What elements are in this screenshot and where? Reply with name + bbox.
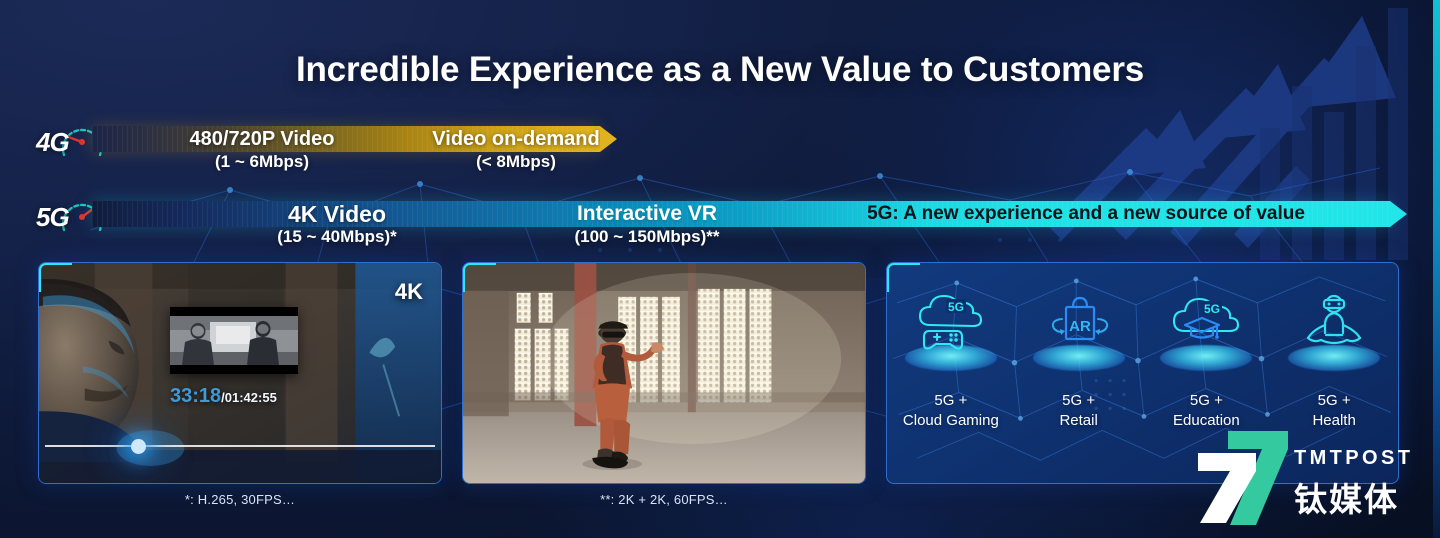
video-quality-badge: 4K bbox=[395, 279, 423, 305]
bar-segment-subtitle-480-720p: (1 ~ 6Mbps) bbox=[92, 152, 432, 172]
bar-segment-title-video-on-demand: Video on-demand bbox=[432, 126, 600, 152]
video-timestamp: 33:18/01:42:55 bbox=[170, 385, 277, 408]
svg-text:5G: 5G bbox=[1204, 302, 1220, 316]
bar-segment-title-4k-video: 4K Video bbox=[92, 201, 582, 227]
panel-caption-interactive-vr: **: 2K + 2K, 60FPS… bbox=[462, 492, 866, 507]
page-title: Incredible Experience as a New Value to … bbox=[0, 50, 1440, 90]
use-case-label-line1: 5G + bbox=[1312, 391, 1355, 411]
use-case-icon-wrapper: 5G bbox=[1160, 291, 1252, 369]
use-case-retail[interactable]: AR 5G + Retail bbox=[1015, 263, 1143, 483]
generation-label-4g: 4G bbox=[36, 127, 69, 158]
video-current-time: 33:18 bbox=[170, 385, 221, 407]
meditating-person-vr-icon bbox=[1293, 291, 1375, 353]
video-progress-bar[interactable] bbox=[45, 445, 435, 447]
svg-text:AR: AR bbox=[1069, 318, 1091, 335]
bar-segment-subtitle-4k-video: (15 ~ 40Mbps)* bbox=[92, 227, 582, 247]
vr-frame-dancer-in-hall bbox=[463, 263, 865, 484]
panel-5g-use-cases: 5G 5G + Cloud Gaming bbox=[886, 262, 1399, 484]
shopping-bag-ar-icon: AR bbox=[1038, 291, 1120, 353]
speed-bar-4g: 480/720P Video Video on-demand bbox=[92, 126, 600, 152]
use-case-label: 5G + Cloud Gaming bbox=[903, 391, 999, 432]
bar-segment-subtitle-video-on-demand: (< 8Mbps) bbox=[432, 152, 600, 172]
svg-text:5G: 5G bbox=[948, 300, 964, 314]
bar-segment-title-interactive-vr: Interactive VR bbox=[532, 201, 762, 227]
use-case-label-line1: 5G + bbox=[1173, 391, 1240, 411]
use-case-label: 5G + Retail bbox=[1059, 391, 1097, 432]
use-case-label-line2: Retail bbox=[1059, 411, 1097, 431]
video-progress-handle[interactable] bbox=[131, 439, 146, 454]
bar-segment-title-5g-value: 5G: A new experience and a new source of… bbox=[782, 201, 1390, 227]
use-case-label-line1: 5G + bbox=[903, 391, 999, 411]
use-case-label-line2: Health bbox=[1312, 411, 1355, 431]
use-case-icon-wrapper bbox=[1288, 291, 1380, 369]
slide-canvas: Incredible Experience as a New Value to … bbox=[0, 0, 1440, 538]
cloud-5g-gamepad-icon: 5G bbox=[910, 291, 992, 353]
pip-video-content bbox=[170, 316, 298, 365]
video-total-time: /01:42:55 bbox=[221, 390, 277, 405]
speed-bar-5g: 4K Video Interactive VR 5G: A new experi… bbox=[92, 201, 1390, 227]
picture-in-picture-thumbnail[interactable] bbox=[170, 307, 298, 374]
use-case-label: 5G + Education bbox=[1173, 391, 1240, 432]
use-case-education[interactable]: 5G 5G + Education bbox=[1143, 263, 1271, 483]
panel-4k-video[interactable]: 4K bbox=[38, 262, 442, 484]
panel-interactive-vr[interactable] bbox=[462, 262, 866, 484]
bar-arrow-tip-5g bbox=[1390, 201, 1407, 227]
bar-segment-title-480-720p: 480/720P Video bbox=[92, 126, 432, 152]
generation-label-5g: 5G bbox=[36, 202, 69, 233]
use-case-cloud-gaming[interactable]: 5G 5G + Cloud Gaming bbox=[887, 263, 1015, 483]
use-case-label-line2: Cloud Gaming bbox=[903, 411, 999, 431]
bar-segment-subtitle-interactive-vr: (100 ~ 150Mbps)** bbox=[532, 227, 762, 247]
pip-frame-two-people bbox=[170, 316, 298, 365]
use-case-icon-wrapper: AR bbox=[1033, 291, 1125, 369]
use-case-label: 5G + Health bbox=[1312, 391, 1355, 432]
use-case-health[interactable]: 5G + Health bbox=[1270, 263, 1398, 483]
use-case-label-line1: 5G + bbox=[1059, 391, 1097, 411]
use-case-icon-wrapper: 5G bbox=[905, 291, 997, 369]
bar-arrow-tip-4g bbox=[600, 126, 617, 152]
panel-caption-4k-video: *: H.265, 30FPS… bbox=[38, 492, 442, 507]
use-case-list: 5G 5G + Cloud Gaming bbox=[887, 263, 1398, 483]
cloud-5g-graduation-cap-icon: 5G bbox=[1165, 291, 1247, 353]
use-case-label-line2: Education bbox=[1173, 411, 1240, 431]
